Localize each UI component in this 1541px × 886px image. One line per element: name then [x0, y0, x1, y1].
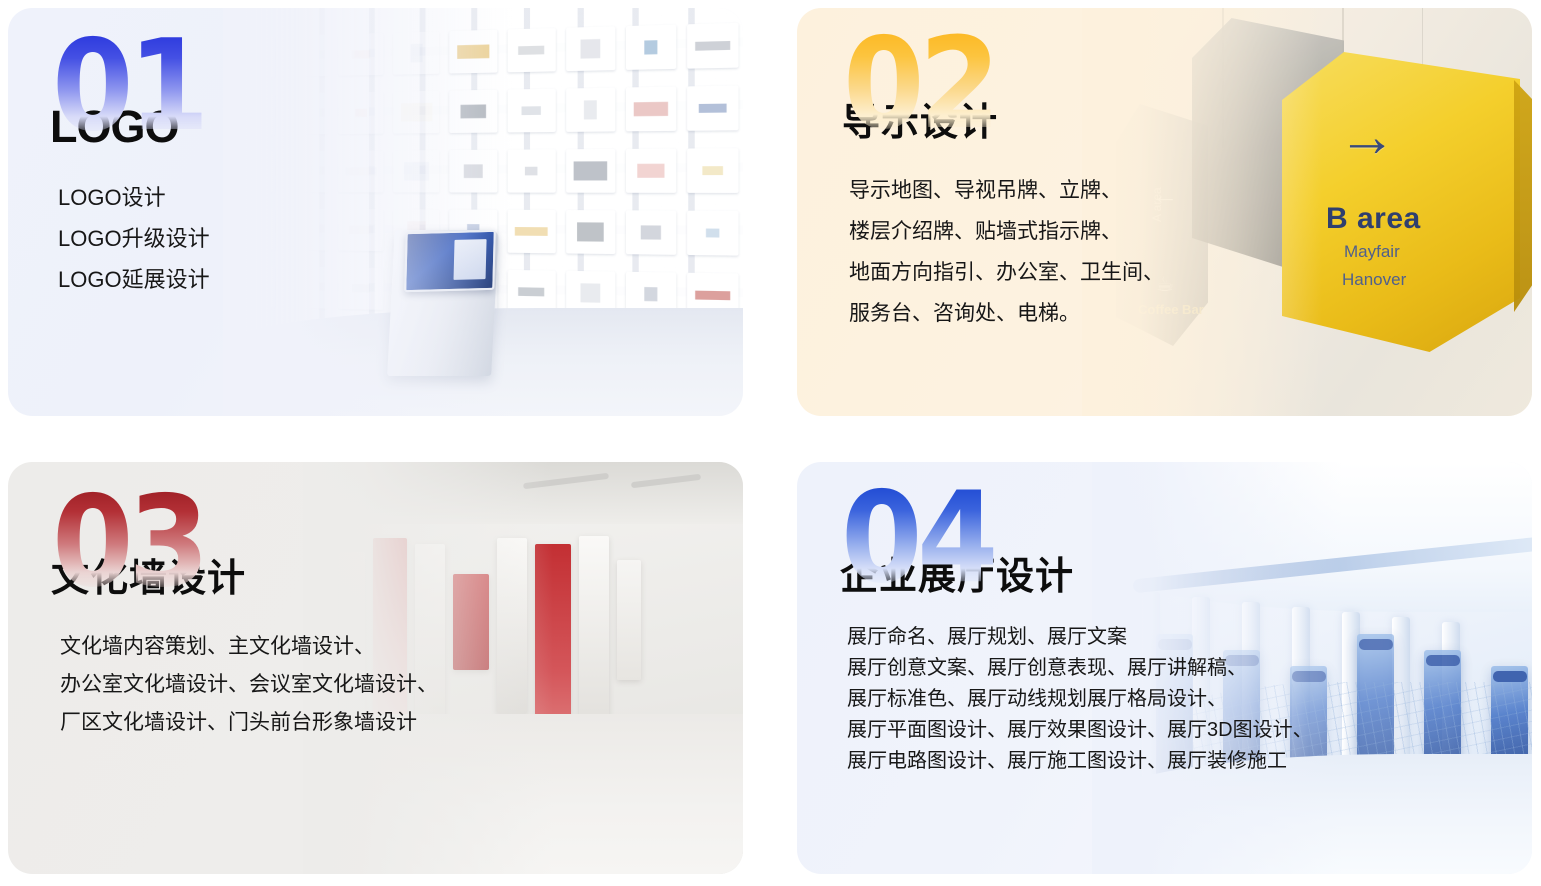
card-body-03: 文化墙内容策划、主文化墙设计、 办公室文化墙设计、会议室文化墙设计、 厂区文化墙…	[60, 628, 743, 742]
service-card-culture-wall[interactable]: 03 文化墙设计 文化墙内容策划、主文化墙设计、 办公室文化墙设计、会议室文化墙…	[8, 462, 743, 874]
service-card-grid: 01 LOGO LOGO设计 LOGO升级设计 LOGO延展设计 ← A are…	[0, 0, 1541, 886]
service-card-exhibition-hall[interactable]: 04 企业展厅设计 展厅命名、展厅规划、展厅文案 展厅创意文案、展厅创意表现、展…	[797, 462, 1532, 874]
service-card-wayfinding[interactable]: ← A area ☕ Coffee Bar → B area Mayfair H…	[797, 8, 1532, 416]
card-number-01: 01	[52, 32, 695, 140]
card-number-03: 03	[52, 488, 695, 596]
card-body-02: 导示地图、导视吊牌、立牌、 楼层介绍牌、贴墙式指示牌、 地面方向指引、办公室、卫…	[849, 170, 1532, 334]
card-body-01: LOGO设计 LOGO升级设计 LOGO延展设计	[58, 177, 743, 300]
card-body-04: 展厅命名、展厅规划、展厅文案 展厅创意文案、展厅创意表现、展厅讲解稿、 展厅标准…	[847, 622, 1532, 777]
card-number-04: 04	[841, 484, 1484, 592]
card-number-02: 02	[843, 30, 1484, 138]
service-card-logo[interactable]: 01 LOGO LOGO设计 LOGO升级设计 LOGO延展设计	[8, 8, 743, 416]
